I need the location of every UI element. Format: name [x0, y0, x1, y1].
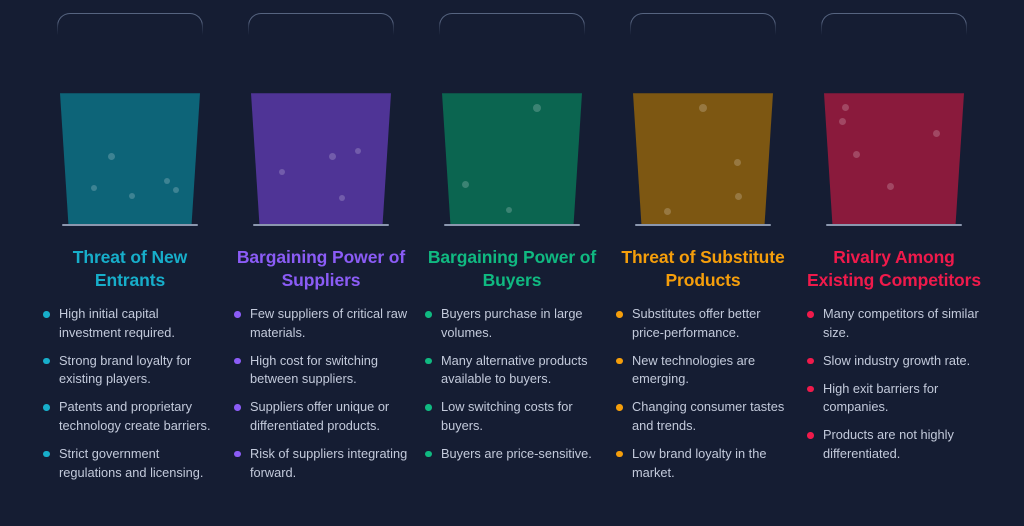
- list-item: Suppliers offer unique or differentiated…: [233, 398, 409, 435]
- bullet-dot-icon: [616, 451, 623, 458]
- force-title-bargaining-power-of-buyers: Bargaining Power of Buyers: [423, 246, 601, 292]
- glass-outline-bargaining-power-of-buyers: [439, 13, 585, 224]
- force-column-threat-of-substitute-products[interactable]: Threat of Substitute ProductsSubstitutes…: [608, 0, 798, 526]
- bullet-dot-icon: [616, 311, 623, 318]
- bullet-dot-icon: [234, 404, 241, 411]
- list-item-label: Low switching costs for buyers.: [441, 399, 573, 433]
- list-item-label: Slow industry growth rate.: [823, 353, 970, 368]
- force-points-rivalry-among-existing-competitors: Many competitors of similar size.Slow in…: [806, 305, 982, 473]
- list-item: Risk of suppliers integrating forward.: [233, 445, 409, 482]
- list-item: New technologies are emerging.: [615, 352, 791, 389]
- list-item-label: High exit barriers for companies.: [823, 381, 938, 415]
- list-item-label: Strong brand loyalty for existing player…: [59, 353, 191, 387]
- glass-outline-threat-of-new-entrants: [57, 13, 203, 224]
- list-item: Products are not highly differentiated.: [806, 426, 982, 463]
- bullet-dot-icon: [425, 451, 432, 458]
- list-item-label: Few suppliers of critical raw materials.: [250, 306, 407, 340]
- list-item-label: Buyers are price-sensitive.: [441, 446, 592, 461]
- glass-bargaining-power-of-buyers: [439, 13, 585, 228]
- porters-five-forces-diagram: Threat of New EntrantsHigh initial capit…: [0, 0, 1024, 526]
- bullet-dot-icon: [807, 311, 814, 318]
- bullet-dot-icon: [234, 451, 241, 458]
- glass-outline-bargaining-power-of-suppliers: [248, 13, 394, 224]
- list-item: Patents and proprietary technology creat…: [42, 398, 218, 435]
- force-title-threat-of-substitute-products: Threat of Substitute Products: [614, 246, 792, 292]
- list-item: Many alternative products available to b…: [424, 352, 600, 389]
- glass-base-bargaining-power-of-suppliers: [253, 224, 389, 227]
- list-item-label: Changing consumer tastes and trends.: [632, 399, 784, 433]
- list-item-label: Patents and proprietary technology creat…: [59, 399, 211, 433]
- force-column-rivalry-among-existing-competitors[interactable]: Rivalry Among Existing CompetitorsMany c…: [799, 0, 989, 526]
- force-column-bargaining-power-of-buyers[interactable]: Bargaining Power of BuyersBuyers purchas…: [417, 0, 607, 526]
- list-item: Slow industry growth rate.: [806, 352, 982, 371]
- force-title-bargaining-power-of-suppliers: Bargaining Power of Suppliers: [232, 246, 410, 292]
- list-item: Many competitors of similar size.: [806, 305, 982, 342]
- list-item-label: Many competitors of similar size.: [823, 306, 979, 340]
- bullet-dot-icon: [43, 404, 50, 411]
- bullet-dot-icon: [425, 404, 432, 411]
- glass-threat-of-substitute-products: [630, 13, 776, 228]
- list-item-label: Many alternative products available to b…: [441, 353, 588, 387]
- list-item-label: Suppliers offer unique or differentiated…: [250, 399, 389, 433]
- list-item-label: High initial capital investment required…: [59, 306, 175, 340]
- bullet-dot-icon: [234, 311, 241, 318]
- bullet-dot-icon: [43, 311, 50, 318]
- bullet-dot-icon: [807, 432, 814, 439]
- force-column-threat-of-new-entrants[interactable]: Threat of New EntrantsHigh initial capit…: [35, 0, 225, 526]
- force-column-bargaining-power-of-suppliers[interactable]: Bargaining Power of SuppliersFew supplie…: [226, 0, 416, 526]
- force-points-bargaining-power-of-suppliers: Few suppliers of critical raw materials.…: [233, 305, 409, 491]
- list-item: High exit barriers for companies.: [806, 380, 982, 417]
- glass-bargaining-power-of-suppliers: [248, 13, 394, 228]
- glass-threat-of-new-entrants: [57, 13, 203, 228]
- list-item: Low switching costs for buyers.: [424, 398, 600, 435]
- bullet-dot-icon: [807, 358, 814, 365]
- bullet-dot-icon: [425, 358, 432, 365]
- bullet-dot-icon: [807, 386, 814, 393]
- list-item-label: Products are not highly differentiated.: [823, 427, 954, 461]
- force-points-threat-of-substitute-products: Substitutes offer better price-performan…: [615, 305, 791, 491]
- glass-outline-rivalry-among-existing-competitors: [821, 13, 967, 224]
- list-item: High initial capital investment required…: [42, 305, 218, 342]
- bullet-dot-icon: [234, 358, 241, 365]
- list-item: Changing consumer tastes and trends.: [615, 398, 791, 435]
- list-item-label: High cost for switching between supplier…: [250, 353, 378, 387]
- glass-outline-threat-of-substitute-products: [630, 13, 776, 224]
- bullet-dot-icon: [43, 451, 50, 458]
- force-title-rivalry-among-existing-competitors: Rivalry Among Existing Competitors: [805, 246, 983, 292]
- glass-base-threat-of-substitute-products: [635, 224, 771, 227]
- list-item: Strict government regulations and licens…: [42, 445, 218, 482]
- glass-rivalry-among-existing-competitors: [821, 13, 967, 228]
- list-item-label: Buyers purchase in large volumes.: [441, 306, 583, 340]
- list-item-label: Strict government regulations and licens…: [59, 446, 203, 480]
- list-item: High cost for switching between supplier…: [233, 352, 409, 389]
- list-item-label: Risk of suppliers integrating forward.: [250, 446, 407, 480]
- glass-base-threat-of-new-entrants: [62, 224, 198, 227]
- glass-base-bargaining-power-of-buyers: [444, 224, 580, 227]
- list-item: Strong brand loyalty for existing player…: [42, 352, 218, 389]
- list-item: Buyers purchase in large volumes.: [424, 305, 600, 342]
- force-title-threat-of-new-entrants: Threat of New Entrants: [41, 246, 219, 292]
- force-points-threat-of-new-entrants: High initial capital investment required…: [42, 305, 218, 491]
- list-item-label: Substitutes offer better price-performan…: [632, 306, 761, 340]
- bullet-dot-icon: [425, 311, 432, 318]
- list-item: Low brand loyalty in the market.: [615, 445, 791, 482]
- list-item-label: New technologies are emerging.: [632, 353, 755, 387]
- bullet-dot-icon: [43, 358, 50, 365]
- list-item: Few suppliers of critical raw materials.: [233, 305, 409, 342]
- bullet-dot-icon: [616, 404, 623, 411]
- glass-base-rivalry-among-existing-competitors: [826, 224, 962, 227]
- list-item-label: Low brand loyalty in the market.: [632, 446, 766, 480]
- force-points-bargaining-power-of-buyers: Buyers purchase in large volumes.Many al…: [424, 305, 600, 473]
- list-item: Substitutes offer better price-performan…: [615, 305, 791, 342]
- bullet-dot-icon: [616, 358, 623, 365]
- list-item: Buyers are price-sensitive.: [424, 445, 600, 464]
